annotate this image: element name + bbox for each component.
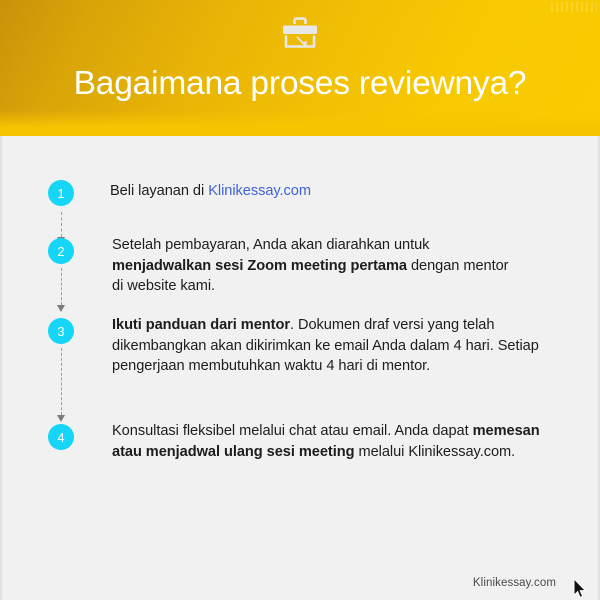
step-text-2: Setelah pembayaran, Anda akan diarahkan … [112, 235, 522, 297]
step-bullet-3: 3 [48, 318, 74, 344]
step-4-segment-0: Konsultasi fleksibel melalui chat atau e… [112, 423, 473, 439]
step-3-segment-0: Ikuti panduan dari mentor [112, 317, 290, 333]
step-text-1: Beli layanan di Klinikessay.com [110, 181, 530, 202]
klinikessay-link[interactable]: Klinikessay.com [208, 183, 311, 199]
step-bullet-4: 4 [48, 424, 74, 450]
page-title: Bagaimana proses reviewnya? [0, 63, 600, 105]
mouse-pointer-icon [573, 578, 587, 599]
step-text-3: Ikuti panduan dari mentor. Dokumen draf … [112, 315, 577, 377]
step-connector-2-3 [56, 268, 66, 312]
steps-list: 1 Beli layanan di Klinikessay.com 2 Sete… [2, 136, 598, 556]
footer-brand: Klinikessay.com [473, 577, 556, 589]
step-text-4: Konsultasi fleksibel melalui chat atau e… [112, 421, 567, 462]
content-area: 1 Beli layanan di Klinikessay.com 2 Sete… [0, 136, 600, 600]
step-2-segment-1: menjadwalkan sesi Zoom meeting pertama [112, 258, 407, 274]
step-bullet-2: 2 [48, 238, 74, 264]
header-banner: Bagaimana proses reviewnya? [0, 0, 600, 136]
briefcase-icon [0, 16, 600, 52]
step-connector-3-4 [56, 348, 66, 422]
step-bullet-1: 1 [48, 180, 74, 206]
header-artifact [551, 2, 597, 12]
step-2-segment-0: Setelah pembayaran, Anda akan diarahkan … [112, 237, 429, 253]
step-4-segment-2: melalui Klinikessay.com. [354, 444, 515, 460]
step-1-segment-0: Beli layanan di [110, 183, 208, 199]
slide-page: Bagaimana proses reviewnya? 1 [0, 0, 600, 600]
